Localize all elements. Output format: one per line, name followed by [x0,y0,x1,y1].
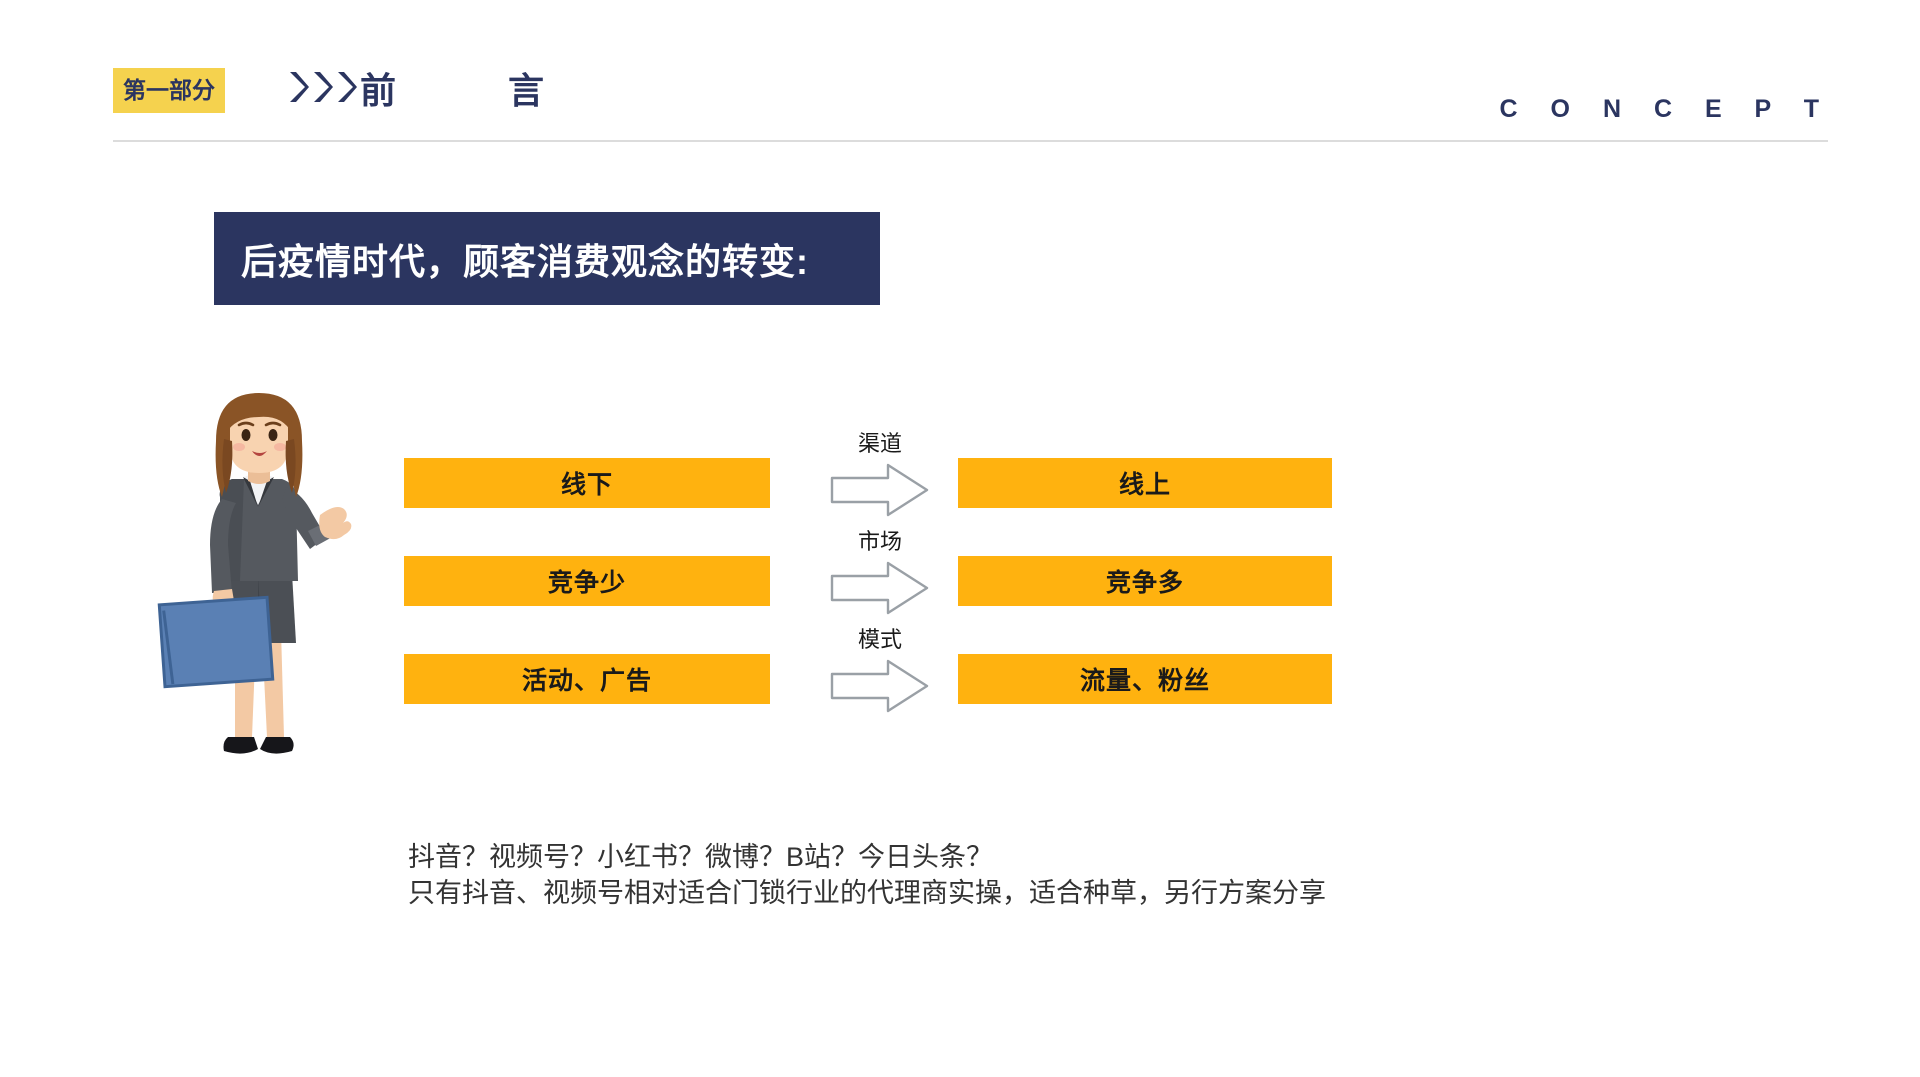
slide-header: 第一部分 前言 C O N C E P T [0,0,1920,150]
triple-chevron-right-icon [288,70,358,104]
footer-note-line-1: 抖音？视频号？小红书？微博？B站？今日头条？ [408,840,1608,876]
footer-note-line-2: 只有抖音、视频号相对适合门锁行业的代理商实操，适合种草，另行方案分享 [408,876,1608,912]
comparison-connector: 渠道 [820,432,940,532]
comparison-to-box: 线上 [958,458,1332,508]
comparison-from-label: 竞争少 [548,563,626,599]
comparison-to-label: 流量、粉丝 [1080,661,1210,697]
comparison-to-box: 流量、粉丝 [958,654,1332,704]
footer-notes: 抖音？视频号？小红书？微博？B站？今日头条？ 只有抖音、视频号相对适合门锁行业的… [408,840,1608,912]
comparison-row: 竞争少 市场 竞争多 [0,538,1920,638]
brand-wordmark: C O N C E P T [1500,95,1832,124]
comparison-to-label: 线上 [1119,465,1171,501]
comparison-row: 活动、广告 模式 流量、粉丝 [0,636,1920,736]
comparison-connector-label: 模式 [820,628,940,652]
header-divider [113,140,1828,142]
comparison-connector-label: 渠道 [820,432,940,456]
page-title-first: 前 [360,70,396,111]
comparison-connector-label: 市场 [820,530,940,554]
comparison-from-label: 活动、广告 [522,661,652,697]
block-arrow-right-icon [830,560,930,616]
comparison-to-box: 竞争多 [958,556,1332,606]
block-arrow-right-icon [830,462,930,518]
section-title-banner: 后疫情时代，顾客消费观念的转变: [214,212,880,305]
comparison-from-box: 活动、广告 [404,654,770,704]
comparison-from-box: 竞争少 [404,556,770,606]
comparison-from-label: 线下 [561,465,613,501]
comparison-to-label: 竞争多 [1106,563,1184,599]
comparison-connector: 市场 [820,530,940,630]
section-title-text: 后疫情时代，顾客消费观念的转变: [214,233,809,285]
page-title-second: 言 [508,70,544,111]
section-badge: 第一部分 [113,68,225,113]
comparison-connector: 模式 [820,628,940,728]
comparison-from-box: 线下 [404,458,770,508]
page-title: 前言 [360,62,544,114]
comparison-row: 线下 渠道 线上 [0,440,1920,540]
slide-root: 第一部分 前言 C O N C E P T 后疫情时代，顾客消费观念的转变: [0,0,1920,1077]
section-badge-label: 第一部分 [123,79,215,102]
block-arrow-right-icon [830,658,930,714]
